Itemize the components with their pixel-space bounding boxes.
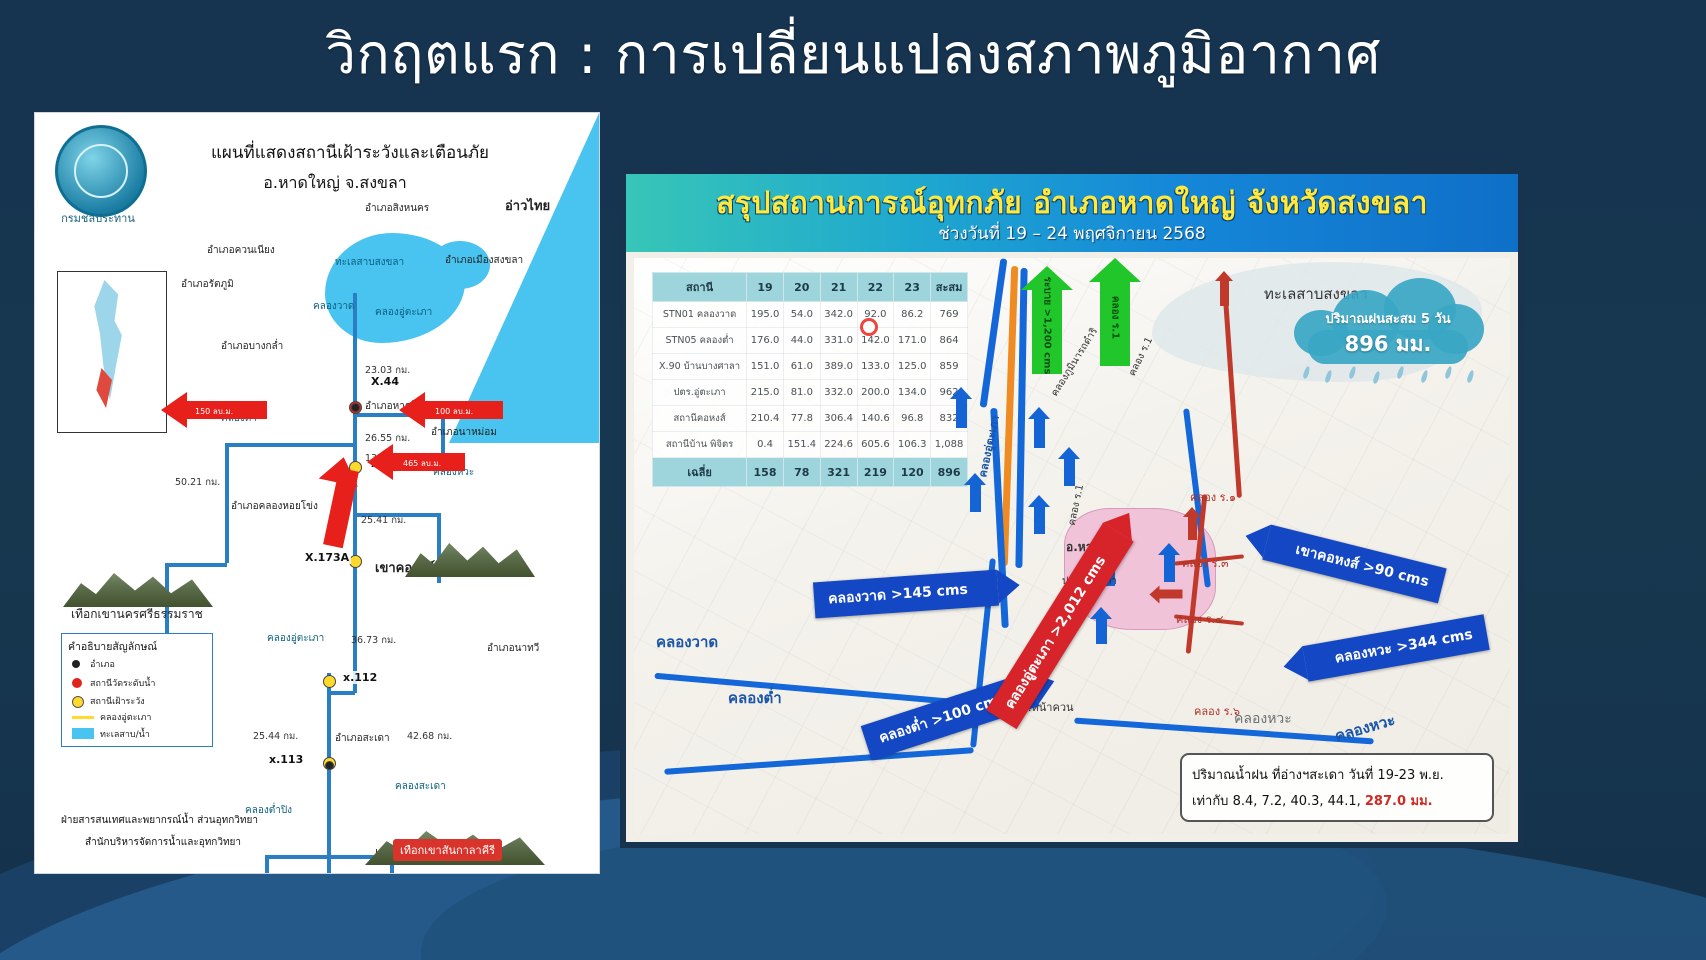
river-segment <box>265 855 269 874</box>
note-line-2: เท่ากับ 8.4, 7.2, 40.3, 44.1, 287.0 มม. <box>1192 790 1482 811</box>
legend-title: คำอธิบายสัญลักษณ์ <box>68 638 157 655</box>
cell-value: 106.3 <box>894 432 931 458</box>
place-label-bangklam: อำเภอบางกล่ำ <box>221 339 283 354</box>
green-arrow-label-1: ระบาย >1,200 cms <box>1040 277 1055 375</box>
table-average-row: เฉลี่ย 158 78 321 219 120 896 <box>653 458 968 487</box>
place-label-khlong-sadao: คลองสะเดา <box>395 779 446 794</box>
cell-value: 224.6 <box>820 432 857 458</box>
cell-station: X.90 บ้านบางศาลา <box>653 354 747 380</box>
legend-item-label: สถานีวัดระดับน้ำ <box>90 676 155 690</box>
table-col-total: สะสม <box>931 273 968 302</box>
place-label-songkhla-lake: ทะเลสาบสงขลา <box>335 255 404 270</box>
red-flow-arrow <box>1159 590 1183 599</box>
table-col-station: สถานี <box>653 273 747 302</box>
cell-value: 200.0 <box>857 380 894 406</box>
left-map-legend: คำอธิบายสัญลักษณ์ อำเภอ สถานีวัดระดับน้ำ… <box>61 633 213 747</box>
inflow-arrow-label-3: 465 ลบ.ม. <box>403 457 441 470</box>
map-label-khlong-tam: คลองต่ำ <box>728 686 782 710</box>
royal-irrigation-seal-icon <box>55 125 147 217</box>
distance-label: 42.68 กม. <box>407 729 452 744</box>
place-label-khlong-utapao: คลองอู่ตะเภา <box>375 305 432 320</box>
place-label-namom: อำเภอนาหม่อม <box>431 425 497 440</box>
table-col-23: 23 <box>894 273 931 302</box>
cell-value: 332.0 <box>820 380 857 406</box>
legend-item-label: อำเภอ <box>90 657 115 671</box>
cell-value: 331.0 <box>820 328 857 354</box>
page-title: วิกฤตแรก : การเปลี่ยนแปลงสภาพภูมิอากาศ <box>0 24 1706 85</box>
legend-item-label: ทะเลสาบ/น้ำ <box>100 727 150 741</box>
rain-cloud-badge: ปริมาณฝนสะสม 5 วัน 896 มม. <box>1288 274 1488 374</box>
right-map-canvas: สถานี 19 20 21 22 23 สะสม STN01 คลองวาด <box>634 258 1510 834</box>
cell-average-value: 158 <box>747 458 784 487</box>
cell-value: 210.4 <box>747 406 784 432</box>
district-marker <box>325 761 334 770</box>
cell-value: 171.0 <box>894 328 931 354</box>
place-label-khlonghoikhong: อำเภอคลองหอยโข่ง <box>231 499 318 514</box>
flow-arrow-up <box>970 484 981 512</box>
place-label-sadao: อำเภอสะเดา <box>335 731 390 746</box>
cell-average-value: 120 <box>894 458 931 487</box>
cell-value: 140.6 <box>857 406 894 432</box>
banner-khaokhohong: เขาคอหงส์ >90 cms <box>1262 525 1446 604</box>
mountain-band-label: เทือกเขาสันกาลาคีรี <box>393 839 502 861</box>
station-code-x173a: X.173A <box>303 551 351 564</box>
station-code-x44: X.44 <box>369 375 401 388</box>
note-line-1: ปริมาณน้ำฝน ที่อ่างฯสะเดา วันที่ 19-23 พ… <box>1192 764 1482 785</box>
table-row: STN05 คลองต่ำ 176.0 44.0 331.0 142.0 171… <box>653 328 968 354</box>
distance-label: 50.21 กม. <box>175 475 220 490</box>
cell-value: 195.0 <box>747 302 784 328</box>
cell-value: 44.0 <box>783 328 820 354</box>
cloud-badge-value: 896 มม. <box>1288 328 1488 361</box>
canal-line <box>664 747 974 775</box>
right-map-header-bar: สรุปสถานการณ์อุทกภัย อำเภอหาดใหญ่ จังหวั… <box>626 174 1518 252</box>
map-label-khlong-r3: คลอง ร.๓ <box>1182 554 1229 572</box>
flow-arrow-up <box>1064 458 1075 486</box>
place-label-nakhon-range: เทือกเขานครศรีธรรมราช <box>71 605 203 624</box>
rainfall-summary-table: สถานี 19 20 21 22 23 สะสม STN01 คลองวาด <box>652 272 968 487</box>
cell-value: 134.0 <box>894 380 931 406</box>
cell-station: สถานีบ้าน พิจิตร <box>653 432 747 458</box>
map-label-khlong-wat: คลองวาด <box>656 630 718 654</box>
cell-value: 96.8 <box>894 406 931 432</box>
cell-value: 0.4 <box>747 432 784 458</box>
red-flow-arrow <box>1220 280 1229 306</box>
note-line-2-highlight: 287.0 มม. <box>1365 794 1433 809</box>
legend-item-label: สถานีเฝ้าระวัง <box>90 694 145 708</box>
table-col-22: 22 <box>857 273 894 302</box>
map-label-khlong-r1-red: คลอง ร.๑ <box>1190 488 1236 506</box>
place-label-khlong-wat: คลองวาด <box>313 299 354 314</box>
map-label-khlong-r1: คลอง ร.1 <box>1125 335 1157 379</box>
rainfall-note-box: ปริมาณน้ำฝน ที่อ่างฯสะเดา วันที่ 19-23 พ… <box>1180 753 1494 822</box>
cell-value: 54.0 <box>783 302 820 328</box>
river-segment <box>225 443 355 447</box>
legend-item-label: คลองอู่ตะเภา <box>100 710 151 724</box>
cursor-pointer-marker <box>860 318 878 336</box>
cell-average-value: 78 <box>783 458 820 487</box>
table-row: STN01 คลองวาด 195.0 54.0 342.0 92.0 86.2… <box>653 302 968 328</box>
note-line-2-prefix: เท่ากับ 8.4, 7.2, 40.3, 44.1, <box>1192 794 1361 809</box>
river-segment <box>165 563 227 567</box>
canal-line <box>980 258 1008 408</box>
left-map-heading-2: อ.หาดใหญ่ จ.สงขลา <box>185 171 485 196</box>
place-label-nathawi: อำเภอนาทวี <box>487 641 539 656</box>
cell-value: 176.0 <box>747 328 784 354</box>
cell-value: 389.0 <box>820 354 857 380</box>
place-label-mueang-songkhla: อำเภอเมืองสงขลา <box>445 253 523 268</box>
left-map-heading-1: แผนที่แสดงสถานีเฝ้าระวังและเตือนภัย <box>185 139 515 166</box>
table-row: สถานีคอหงส์ 210.4 77.8 306.4 140.6 96.8 … <box>653 406 968 432</box>
table-row: สถานีบ้าน พิจิตร 0.4 151.4 224.6 605.6 1… <box>653 432 968 458</box>
cell-value: 215.0 <box>747 380 784 406</box>
banner-khlong-wa: คลองหวะ >344 cms <box>1302 614 1489 681</box>
cell-value: 1,088 <box>931 432 968 458</box>
cell-value: 133.0 <box>857 354 894 380</box>
place-label-rattaphum: อำเภอรัตภูมิ <box>181 277 234 292</box>
mountain-range-west <box>63 561 213 607</box>
cell-value: 769 <box>931 302 968 328</box>
distance-label: 25.44 กม. <box>253 729 298 744</box>
cell-value: 306.4 <box>820 406 857 432</box>
red-flow-arrow <box>1188 516 1197 540</box>
cell-value: 125.0 <box>894 354 931 380</box>
station-marker-x112 <box>323 675 336 688</box>
cell-value: 342.0 <box>820 302 857 328</box>
cell-value: 605.6 <box>857 432 894 458</box>
table-row: X.90 บ้านบางศาลา 151.0 61.0 389.0 133.0 … <box>653 354 968 380</box>
flow-arrow-up <box>1164 554 1175 582</box>
canal-wa <box>1074 718 1374 745</box>
table-col-21: 21 <box>820 273 857 302</box>
cloud-badge-line1: ปริมาณฝนสะสม 5 วัน <box>1288 308 1488 329</box>
map-label-khlong-r4: คลอง ร.๔ <box>1176 610 1223 628</box>
cell-station: STN05 คลองต่ำ <box>653 328 747 354</box>
left-warning-station-map: กรมชลประทาน แผนที่แสดงสถานีเฝ้าระวังและเ… <box>34 112 600 874</box>
inflow-arrow-label-2: 100 ลบ.ม. <box>435 405 473 418</box>
station-code-x113: x.113 <box>267 753 305 766</box>
cell-value: 864 <box>931 328 968 354</box>
cell-value: 86.2 <box>894 302 931 328</box>
station-code-x112: x.112 <box>341 671 379 684</box>
flow-arrow-up <box>1034 506 1045 534</box>
cell-value: 151.4 <box>783 432 820 458</box>
table-row: ปตร.อู่ตะเภา 215.0 81.0 332.0 200.0 134.… <box>653 380 968 406</box>
banner-khlong-wat: คลองวาด >145 cms <box>813 570 999 619</box>
cell-station: STN01 คลองวาด <box>653 302 747 328</box>
cell-value: 61.0 <box>783 354 820 380</box>
agency-seal-label: กรมชลประทาน <box>43 209 153 227</box>
thailand-inset-map <box>57 271 167 433</box>
left-map-footer-2: สำนักบริหารจัดการน้ำและอุทกวิทยา <box>85 835 241 850</box>
cell-average-value: 219 <box>857 458 894 487</box>
flow-arrow-up <box>1096 618 1107 644</box>
flow-arrow-up <box>956 398 967 428</box>
river-segment <box>327 691 355 695</box>
table-col-20: 20 <box>783 273 820 302</box>
table-col-19: 19 <box>747 273 784 302</box>
river-segment <box>225 443 229 563</box>
place-label-khlong-utapao-2: คลองอู่ตะเภา <box>267 631 324 646</box>
map-label-khlong-wa: คลองหวะ <box>1234 708 1292 730</box>
green-discharge-arrow-1: ระบาย >1,200 cms <box>1032 288 1062 374</box>
cell-value: 859 <box>931 354 968 380</box>
cell-value: 151.0 <box>747 354 784 380</box>
cell-station: ปตร.อู่ตะเภา <box>653 380 747 406</box>
left-map-footer-1: ฝ่ายสารสนเทศและพยากรณ์น้ำ ส่วนอุทกวิทยา <box>61 813 258 828</box>
green-arrow-label-2: คลอง ร.1 <box>1108 296 1123 339</box>
canal-line <box>1015 268 1027 568</box>
place-label-singhanakhon: อำเภอสิงหนคร <box>365 201 429 216</box>
cell-value: 81.0 <box>783 380 820 406</box>
cell-average-value: 321 <box>820 458 857 487</box>
flow-arrow-up <box>1034 418 1045 448</box>
district-marker <box>351 403 360 412</box>
cell-station: สถานีคอหงส์ <box>653 406 747 432</box>
right-map-subtitle: ช่วงวันที่ 19 – 24 พฤศจิกายน 2568 <box>626 220 1518 247</box>
cell-average-value: 896 <box>931 458 968 487</box>
right-flood-summary-map: สรุปสถานการณ์อุทกภัย อำเภอหาดใหญ่ จังหวั… <box>620 168 1524 848</box>
table-header-row: สถานี 19 20 21 22 23 สะสม <box>653 273 968 302</box>
place-label-khuanniang: อำเภอควนเนียง <box>207 243 275 258</box>
green-discharge-arrow-2: คลอง ร.1 <box>1100 280 1130 366</box>
place-label-gulf: อ่าวไทย <box>505 195 550 216</box>
distance-label: 36.73 กม. <box>351 633 396 648</box>
river-segment <box>265 855 331 859</box>
mountain-khaokhohong <box>405 531 535 577</box>
cell-value: 77.8 <box>783 406 820 432</box>
cell-average-label: เฉลี่ย <box>653 458 747 487</box>
slide-canvas: วิกฤตแรก : การเปลี่ยนแปลงสภาพภูมิอากาศ ก… <box>0 0 1706 960</box>
inflow-arrow-label-1: 150 ลบ.ม. <box>195 405 233 418</box>
distance-label: 25.41 กม. <box>361 513 406 528</box>
